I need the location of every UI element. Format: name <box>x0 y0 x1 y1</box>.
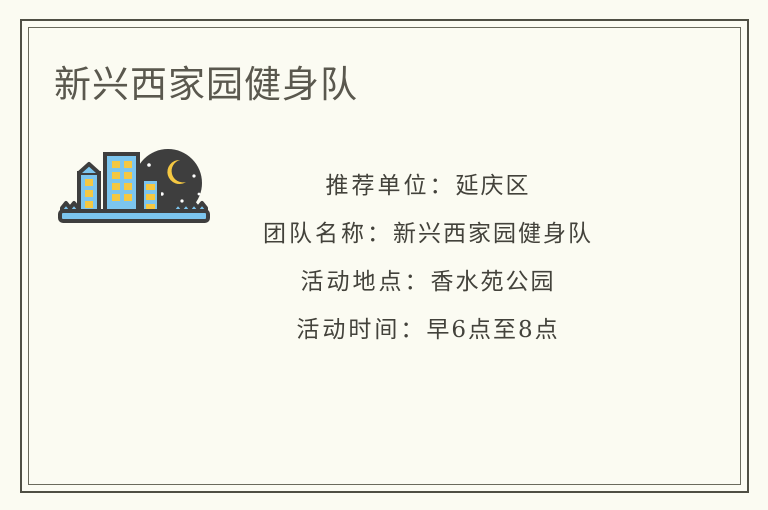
info-label: 团队名称： <box>263 221 393 247</box>
night-city-icon <box>56 145 212 227</box>
card-content: 新兴西家园健身队 <box>0 0 768 510</box>
info-value: 新兴西家园健身队 <box>393 221 593 247</box>
info-line-recommending-unit: 推荐单位：延庆区 <box>228 162 628 210</box>
info-line-activity-location: 活动地点：香水苑公园 <box>228 258 628 306</box>
info-value: 早6点至8点 <box>426 317 559 343</box>
info-label: 活动时间： <box>296 317 426 343</box>
info-line-activity-time: 活动时间：早6点至8点 <box>228 306 628 354</box>
info-value: 香水苑公园 <box>431 269 556 295</box>
info-line-team-name: 团队名称：新兴西家园健身队 <box>228 210 628 258</box>
info-label: 活动地点： <box>301 269 431 295</box>
info-block: 推荐单位：延庆区 团队名称：新兴西家园健身队 活动地点：香水苑公园 活动时间：早… <box>228 162 628 354</box>
info-label: 推荐单位： <box>326 173 456 199</box>
info-value: 延庆区 <box>456 173 531 199</box>
page-title: 新兴西家园健身队 <box>54 62 358 108</box>
poster-card: 新兴西家园健身队 <box>0 0 768 510</box>
